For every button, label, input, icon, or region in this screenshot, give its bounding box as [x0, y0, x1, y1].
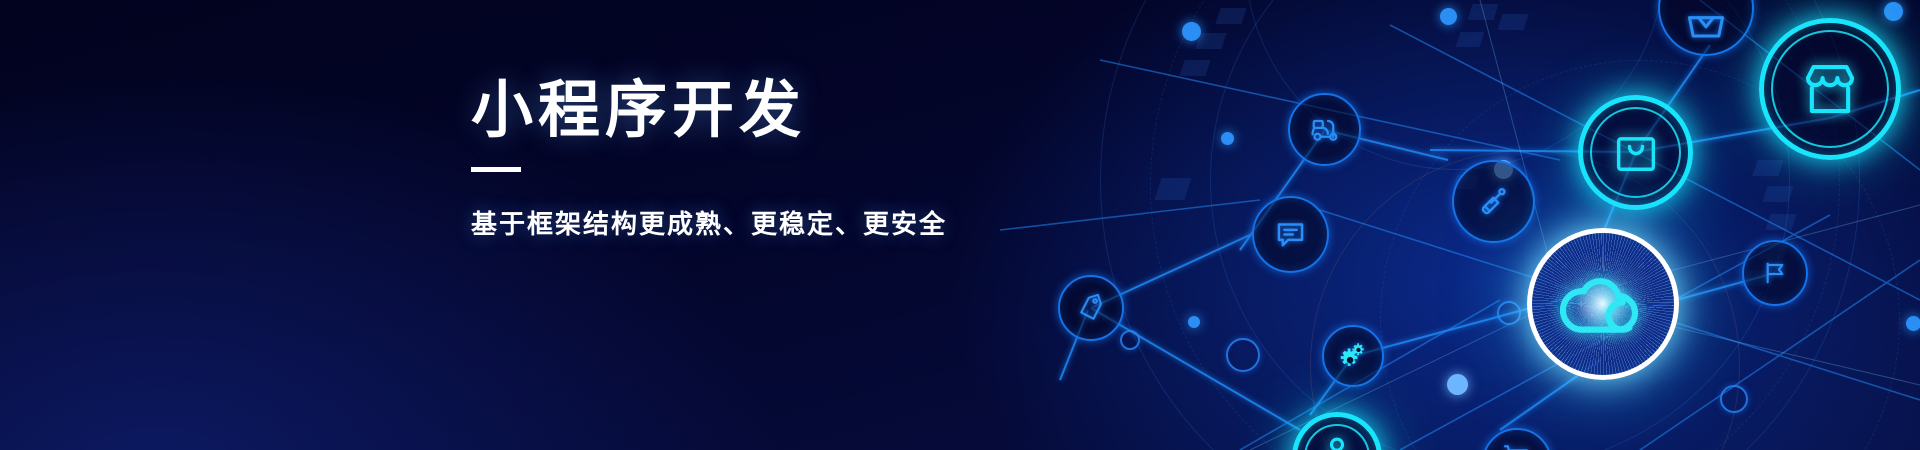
flag-icon	[1759, 257, 1791, 289]
shopping-bag-icon	[1610, 127, 1662, 179]
hero-banner: 小程序开发 基于框架结构更成熟、更稳定、更安全	[0, 0, 1920, 450]
user-icon	[1315, 430, 1359, 450]
decor-dot	[1440, 8, 1457, 25]
node-price-tag[interactable]	[1058, 275, 1124, 341]
node-screwdriver[interactable]	[1452, 160, 1535, 243]
decor-dot	[1221, 132, 1234, 145]
network-lines	[0, 0, 1920, 450]
screwdriver-icon	[1475, 183, 1513, 221]
decor-dot	[1182, 22, 1201, 41]
shopping-cart-icon	[1501, 441, 1533, 450]
shopping-basket-icon	[1684, 3, 1728, 47]
decor-circle	[1497, 301, 1521, 325]
decor-dot	[1906, 316, 1920, 331]
node-flag[interactable]	[1742, 240, 1808, 306]
storefront-icon	[1797, 56, 1863, 122]
decor-circle	[1226, 338, 1260, 372]
decor-circle	[1120, 330, 1140, 350]
node-gears[interactable]	[1322, 325, 1384, 387]
decor-dot	[1447, 374, 1468, 395]
chat-bubble-icon	[1272, 216, 1309, 253]
cloud-icon	[1555, 256, 1651, 352]
title-divider	[471, 167, 521, 172]
gears-icon	[1337, 340, 1369, 372]
decor-circle	[1720, 385, 1748, 413]
price-tag-icon	[1071, 288, 1110, 327]
node-shopping-bag[interactable]	[1578, 95, 1693, 210]
page-subtitle: 基于框架结构更成熟、更稳定、更安全	[471, 204, 947, 241]
banner-copy: 小程序开发 基于框架结构更成熟、更稳定、更安全	[471, 78, 947, 241]
delivery-scooter-icon	[1307, 112, 1343, 148]
node-delivery-scooter[interactable]	[1288, 93, 1361, 166]
node-storefront[interactable]	[1759, 18, 1901, 160]
decor-dot	[1884, 2, 1903, 21]
page-title: 小程序开发	[471, 78, 947, 143]
decor-dot	[1188, 316, 1200, 328]
node-cloud[interactable]	[1527, 228, 1679, 380]
node-chat[interactable]	[1252, 196, 1329, 273]
